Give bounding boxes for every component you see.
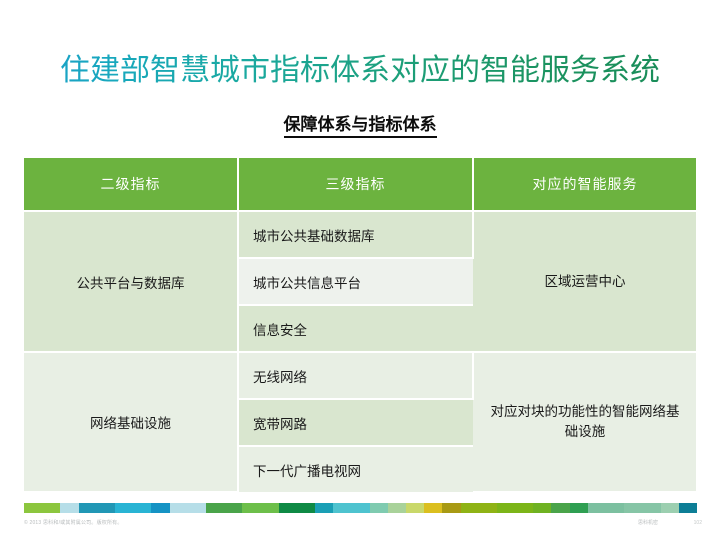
page-subtitle-text: 保障体系与指标体系 — [284, 115, 437, 138]
item-cell-2-2: 宽带网路 — [238, 399, 473, 446]
color-bar-segment-34 — [642, 503, 660, 513]
column-header-service: 对应的智能服务 — [473, 158, 696, 211]
indicator-table-wrapper: 二级指标 三级指标 对应的智能服务 公共平台与数据库 城市公共基础数据库 区域运… — [24, 158, 696, 483]
group-cell-2: 网络基础设施 — [24, 352, 238, 492]
table-row: 网络基础设施 无线网络 对应对块的功能性的智能网络基础设施 — [24, 352, 696, 399]
item-cell-2-3: 下一代广播电视网 — [238, 446, 473, 492]
column-header-level2: 二级指标 — [24, 158, 238, 211]
color-bar-segment-31 — [588, 503, 606, 513]
color-bar-segment-5 — [115, 503, 133, 513]
color-bar-segment-35 — [661, 503, 679, 513]
color-bar-segment-13 — [260, 503, 278, 513]
color-bar-segment-22 — [424, 503, 442, 513]
color-bar-segment-16 — [315, 503, 333, 513]
footer-color-bar — [24, 503, 697, 513]
indicator-table: 二级指标 三级指标 对应的智能服务 公共平台与数据库 城市公共基础数据库 区域运… — [24, 158, 696, 493]
color-bar-segment-3 — [79, 503, 97, 513]
group-cell-1: 公共平台与数据库 — [24, 211, 238, 352]
color-bar-segment-28 — [533, 503, 551, 513]
color-bar-segment-27 — [515, 503, 533, 513]
color-bar-segment-21 — [406, 503, 424, 513]
color-bar-segment-7 — [151, 503, 169, 513]
color-bar-segment-4 — [97, 503, 115, 513]
color-bar-segment-36 — [679, 503, 697, 513]
color-bar-segment-23 — [442, 503, 460, 513]
color-bar-segment-14 — [279, 503, 297, 513]
color-bar-segment-18 — [351, 503, 369, 513]
color-bar-segment-20 — [388, 503, 406, 513]
column-header-level3: 三级指标 — [238, 158, 473, 211]
color-bar-segment-33 — [624, 503, 642, 513]
service-cell-2: 对应对块的功能性的智能网络基础设施 — [473, 352, 696, 492]
footer-copyright: © 2013 思科和/或其附属公司。版权所有。 — [24, 519, 123, 527]
color-bar-segment-17 — [333, 503, 351, 513]
footer-confidentiality-label: 思科机密 — [638, 519, 658, 527]
page-title: 住建部智慧城市指标体系对应的智能服务系统 — [0, 52, 720, 90]
service-cell-1: 区域运营中心 — [473, 211, 696, 352]
color-bar-segment-6 — [133, 503, 151, 513]
color-bar-segment-10 — [206, 503, 224, 513]
color-bar-segment-2 — [60, 503, 78, 513]
item-cell-2-1: 无线网络 — [238, 352, 473, 399]
color-bar-segment-8 — [170, 503, 188, 513]
color-bar-segment-25 — [479, 503, 497, 513]
slide-canvas: 住建部智慧城市指标体系对应的智能服务系统 保障体系与指标体系 二级指标 三级指标… — [0, 0, 720, 540]
color-bar-segment-9 — [188, 503, 206, 513]
color-bar-segment-26 — [497, 503, 515, 513]
item-cell-1-1: 城市公共基础数据库 — [238, 211, 473, 258]
color-bar-segment-0 — [24, 503, 42, 513]
color-bar-segment-29 — [551, 503, 569, 513]
color-bar-segment-30 — [570, 503, 588, 513]
color-bar-segment-11 — [224, 503, 242, 513]
table-row: 公共平台与数据库 城市公共基础数据库 区域运营中心 — [24, 211, 696, 258]
footer-page-number: 102 — [694, 519, 702, 527]
item-cell-1-2: 城市公共信息平台 — [238, 258, 473, 305]
color-bar-segment-24 — [461, 503, 479, 513]
page-subtitle: 保障体系与指标体系 — [0, 114, 720, 136]
color-bar-segment-12 — [242, 503, 260, 513]
color-bar-segment-19 — [370, 503, 388, 513]
table-header-row: 二级指标 三级指标 对应的智能服务 — [24, 158, 696, 211]
color-bar-segment-32 — [606, 503, 624, 513]
item-cell-1-3: 信息安全 — [238, 305, 473, 352]
color-bar-segment-15 — [297, 503, 315, 513]
color-bar-segment-1 — [42, 503, 60, 513]
